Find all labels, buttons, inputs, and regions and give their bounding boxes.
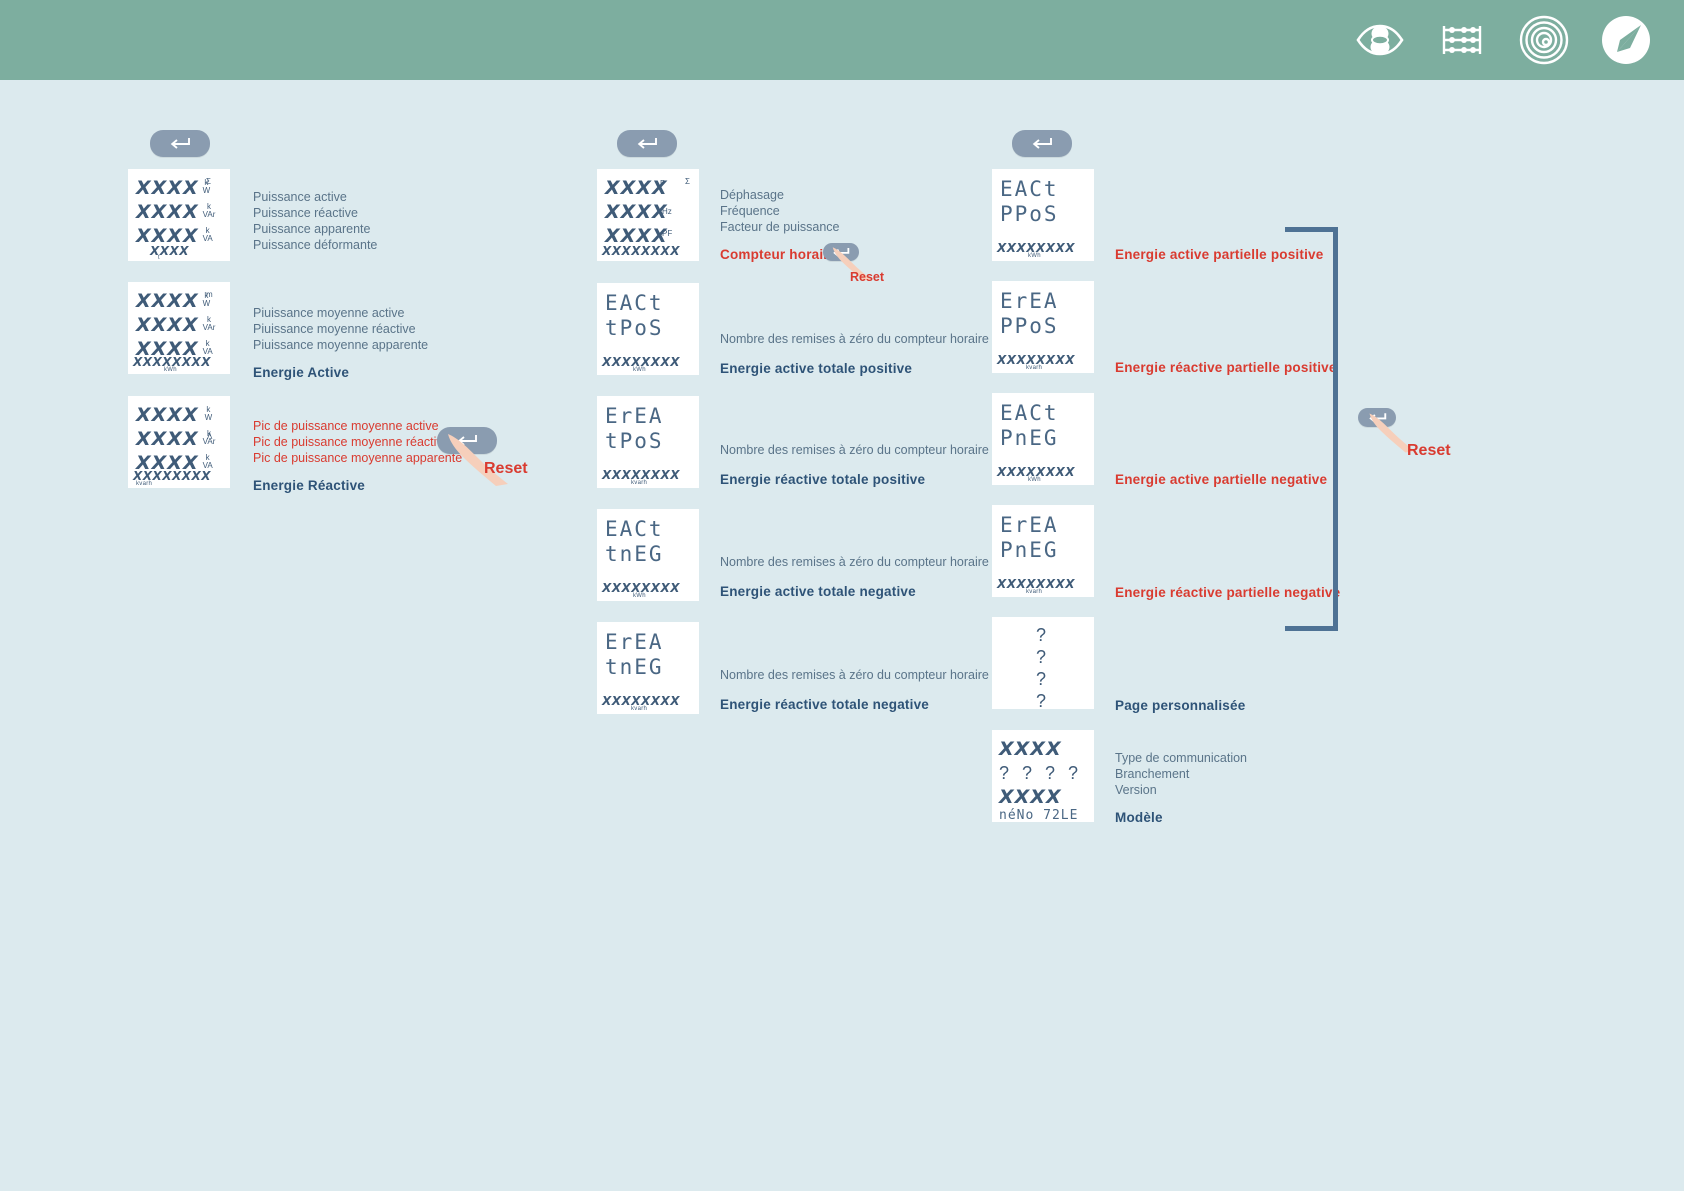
lcd-unit-small: kvarh bbox=[631, 706, 647, 712]
caption-peak-apparent: Pic de puissance moyenne apparente bbox=[253, 450, 462, 466]
compass-needle-icon[interactable] bbox=[1600, 14, 1652, 66]
caption-type-communication: Type de communication bbox=[1115, 750, 1247, 766]
eye-logo-icon[interactable] bbox=[1354, 14, 1406, 66]
lcd-seg-line1: EACt bbox=[1000, 177, 1059, 201]
lcd-seg-line1: EACt bbox=[605, 517, 664, 541]
lcd-seg-line2: PPoS bbox=[1000, 202, 1059, 226]
column2-enter-button[interactable] bbox=[617, 130, 677, 157]
caption-remises-zero: Nombre des remises à zéro du compteur ho… bbox=[720, 667, 989, 683]
lcd-digits: XXXX bbox=[999, 740, 1062, 759]
caption-facteur-puissance: Facteur de puissance bbox=[720, 219, 840, 235]
lcd-panel-eact-pneg: EACt PnEG XXXXXXXX kWh bbox=[992, 393, 1094, 485]
caption-energie-reactive: Energie Réactive bbox=[253, 478, 365, 494]
lcd-panel-erea-tpos: ErEA tPoS XXXXXXXX kvarh bbox=[597, 396, 699, 488]
lcd-unit: k W bbox=[205, 406, 213, 422]
lcd-digits: XXXXXXXX bbox=[602, 245, 680, 257]
lcd-seg-line1: EACt bbox=[605, 291, 664, 315]
lcd-seg-line2: tnEG bbox=[605, 542, 664, 566]
lcd-panel-phase-freq: XXXX P Σ XXXX Hz XXXX PF XXXXXXXX bbox=[597, 169, 699, 261]
enter-arrow-icon bbox=[169, 137, 191, 150]
caption-puissance-apparente: Puissance apparente bbox=[253, 221, 370, 237]
lcd-flag-sigma: Σ bbox=[206, 177, 211, 186]
lcd-panel-power: XXXX k W Σ XXXX k VAr XXXX k VA XXXX t bbox=[128, 169, 230, 261]
lcd-panel-custom-page: ? ? ? ? bbox=[992, 617, 1094, 709]
caption-branchement: Branchement bbox=[1115, 766, 1189, 782]
lcd-panel-erea-ppos: ErEA PPoS XXXXXXXX kvarh bbox=[992, 281, 1094, 373]
lcd-panel-eact-tpos: EACt tPoS XXXXXXXX kWh bbox=[597, 283, 699, 375]
lcd-unit-small: kvarh bbox=[631, 480, 647, 486]
lcd-unit-small: kvarh bbox=[136, 481, 152, 487]
lcd-panel-eact-ppos: EACt PPoS XXXXXXXX kWh bbox=[992, 169, 1094, 261]
lcd-digits: XXXX bbox=[136, 430, 199, 449]
caption-mean-active: Piuissance moyenne active bbox=[253, 305, 404, 321]
lcd-panel-erea-pneg: ErEA PnEG XXXXXXXX kvarh bbox=[992, 505, 1094, 597]
column1-reset-label: Reset bbox=[484, 460, 528, 478]
caption-modele: Modèle bbox=[1115, 810, 1163, 826]
abacus-icon[interactable] bbox=[1436, 14, 1488, 66]
lcd-unit-small: kvarh bbox=[1026, 589, 1042, 595]
caption-remises-zero: Nombre des remises à zéro du compteur ho… bbox=[720, 554, 989, 570]
lcd-seg-line2: tPoS bbox=[605, 429, 664, 453]
lcd-flag-m: m bbox=[206, 290, 213, 299]
column2-reset-label: Reset bbox=[850, 270, 884, 284]
lcd-panel-model: XXXX ? ? ? ? XXXX néNo 72LE bbox=[992, 730, 1094, 822]
lcd-seg-line1: ErEA bbox=[605, 630, 664, 654]
lcd-flag-lambda: Λ bbox=[207, 432, 212, 441]
lcd-unit-small: kWh bbox=[164, 367, 177, 373]
lcd-seg-line1: ErEA bbox=[605, 404, 664, 428]
lcd-seg-line1: EACt bbox=[1000, 401, 1059, 425]
caption-mean-apparent: Piuissance moyenne apparente bbox=[253, 337, 428, 353]
lcd-question-1: ? bbox=[1036, 626, 1046, 644]
lcd-seg-line2: PnEG bbox=[1000, 426, 1059, 450]
lcd-digits: XXXX bbox=[136, 316, 199, 335]
lcd-digits: XXXX bbox=[136, 406, 199, 425]
lcd-unit-small: t bbox=[158, 255, 160, 261]
lcd-digits: XXXX bbox=[150, 245, 189, 257]
column1-enter-button[interactable] bbox=[150, 130, 210, 157]
lcd-seg-line2: PPoS bbox=[1000, 314, 1059, 338]
caption-puissance-deformante: Puissance déformante bbox=[253, 237, 377, 253]
caption-energie-active: Energie Active bbox=[253, 365, 349, 381]
caption-puissance-reactive: Puissance réactive bbox=[253, 205, 358, 221]
lcd-unit: k VAr bbox=[203, 316, 216, 332]
lcd-unit-small: kvarh bbox=[1026, 365, 1042, 371]
lcd-digits: XXXX bbox=[136, 179, 199, 198]
lcd-unit-hz: Hz bbox=[662, 207, 672, 216]
lcd-unit-small: kWh bbox=[633, 367, 646, 373]
lcd-seg-model: néNo 72LE bbox=[999, 804, 1078, 822]
lcd-seg-line2: tnEG bbox=[605, 655, 664, 679]
lcd-digits: XXXX bbox=[136, 203, 199, 222]
lcd-question-4: ? bbox=[1036, 692, 1046, 709]
column3-enter-button[interactable] bbox=[1012, 130, 1072, 157]
lcd-seg-line1: ErEA bbox=[1000, 513, 1059, 537]
lcd-question-2: ? bbox=[1036, 648, 1046, 666]
caption-compteur-horaire: Compteur horaire bbox=[720, 247, 836, 263]
caption-peak-reactive: Pic de puissance moyenne réactive bbox=[253, 434, 450, 450]
grouping-bracket bbox=[1285, 227, 1338, 631]
spiral-target-icon[interactable] bbox=[1518, 14, 1570, 66]
lcd-digits: XXXX bbox=[605, 203, 668, 222]
lcd-seg-line2: tPoS bbox=[605, 316, 664, 340]
diagram-canvas: XXXX k W Σ XXXX k VAr XXXX k VA XXXX t P bbox=[0, 80, 1684, 1191]
lcd-digits: XXXX bbox=[136, 292, 199, 311]
lcd-unit-small: kWh bbox=[1028, 253, 1041, 259]
lcd-unit: k VA bbox=[203, 454, 213, 470]
caption-peak-active: Pic de puissance moyenne active bbox=[253, 418, 439, 434]
lcd-digits: XXXX bbox=[605, 179, 668, 198]
lcd-panel-eact-tneg: EACt tnEG XXXXXXXX kWh bbox=[597, 509, 699, 601]
app-header-bar bbox=[0, 0, 1684, 80]
column3-reset-label: Reset bbox=[1407, 442, 1451, 460]
caption-frequence: Fréquence bbox=[720, 203, 780, 219]
caption-energie-active-totale-negative: Energie active totale negative bbox=[720, 584, 916, 600]
caption-energie-reactive-totale-positive: Energie réactive totale positive bbox=[720, 472, 925, 488]
caption-page-personnalisee: Page personnalisée bbox=[1115, 698, 1245, 714]
lcd-question-row: ? ? ? ? bbox=[999, 764, 1082, 782]
caption-puissance-active: Puissance active bbox=[253, 189, 347, 205]
lcd-question-3: ? bbox=[1036, 670, 1046, 688]
lcd-panel-mean-power: XXXX k W m XXXX k VAr XXXX k VA XXXXXXXX… bbox=[128, 282, 230, 374]
lcd-unit: k VA bbox=[203, 340, 213, 356]
caption-remises-zero: Nombre des remises à zéro du compteur ho… bbox=[720, 331, 989, 347]
lcd-panel-erea-tneg: ErEA tnEG XXXXXXXX kvarh bbox=[597, 622, 699, 714]
lcd-unit-p: P bbox=[660, 179, 665, 188]
enter-arrow-icon bbox=[1031, 137, 1053, 150]
lcd-unit: k VA bbox=[203, 227, 213, 243]
lcd-unit-small: kWh bbox=[633, 593, 646, 599]
header-icon-group bbox=[1354, 0, 1652, 80]
lcd-seg-line1: ErEA bbox=[1000, 289, 1059, 313]
lcd-unit-pf: PF bbox=[662, 229, 672, 238]
lcd-panel-peak-power: XXXX k W XXXX k VAr Λ XXXX k VA XXXXXXXX… bbox=[128, 396, 230, 488]
lcd-flag-sigma: Σ bbox=[685, 177, 690, 186]
lcd-unit: k VAr bbox=[203, 203, 216, 219]
caption-energie-reactive-totale-negative: Energie réactive totale negative bbox=[720, 697, 929, 713]
caption-remises-zero: Nombre des remises à zéro du compteur ho… bbox=[720, 442, 989, 458]
lcd-seg-line2: PnEG bbox=[1000, 538, 1059, 562]
caption-energie-active-totale-positive: Energie active totale positive bbox=[720, 361, 912, 377]
lcd-unit-small: kWh bbox=[1028, 477, 1041, 483]
caption-version: Version bbox=[1115, 782, 1157, 798]
caption-dephasage: Déphasage bbox=[720, 187, 784, 203]
enter-arrow-icon bbox=[636, 137, 658, 150]
caption-mean-reactive: Piuissance moyenne réactive bbox=[253, 321, 416, 337]
